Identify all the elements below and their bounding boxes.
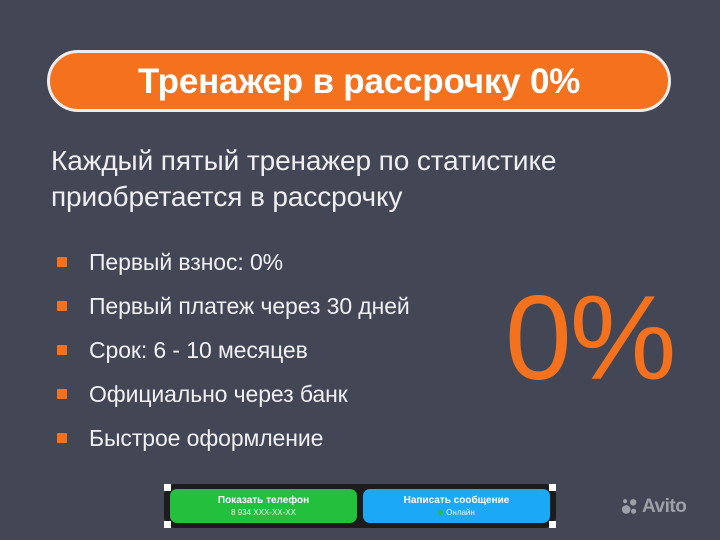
avito-dots-icon <box>621 498 638 515</box>
send-message-label: Написать сообщение <box>404 495 510 507</box>
list-item-label: Первый платеж через 30 дней <box>89 295 410 318</box>
list-item: Срок: 6 - 10 месяцев <box>57 328 487 372</box>
avito-watermark: Avito <box>621 497 686 516</box>
zero-percent-graphic: 0% <box>505 278 674 398</box>
benefits-list: Первый взнос: 0% Первый платеж через 30 … <box>57 240 487 460</box>
action-bar: Показать телефон 8 934 XXX-XX-XX Написат… <box>164 484 556 528</box>
subtitle-line-1: Каждый пятый тренажер по статистике <box>51 143 681 179</box>
online-status: Онлайн <box>438 507 475 518</box>
list-item-label: Официально через банк <box>89 383 348 406</box>
square-bullet-icon <box>57 433 67 443</box>
show-phone-button[interactable]: Показать телефон 8 934 XXX-XX-XX <box>170 489 357 523</box>
corner-marker <box>164 521 171 528</box>
show-phone-label: Показать телефон <box>218 495 309 507</box>
list-item-label: Первый взнос: 0% <box>89 251 283 274</box>
send-message-button[interactable]: Написать сообщение Онлайн <box>363 489 550 523</box>
phone-number: 8 934 XXX-XX-XX <box>231 507 296 518</box>
list-item-label: Срок: 6 - 10 месяцев <box>89 339 308 362</box>
list-item: Быстрое оформление <box>57 416 487 460</box>
avito-wordmark: Avito <box>642 497 686 516</box>
list-item: Первый взнос: 0% <box>57 240 487 284</box>
list-item: Первый платеж через 30 дней <box>57 284 487 328</box>
corner-marker <box>549 484 556 491</box>
square-bullet-icon <box>57 345 67 355</box>
corner-marker <box>549 521 556 528</box>
subtitle-line-2: приобретается в рассрочку <box>51 179 681 215</box>
online-status-label: Онлайн <box>446 507 475 518</box>
subtitle-block: Каждый пятый тренажер по статистике прио… <box>51 143 681 215</box>
square-bullet-icon <box>57 389 67 399</box>
headline-banner: Тренажер в рассрочку 0% <box>47 50 671 112</box>
headline-text: Тренажер в рассрочку 0% <box>138 64 580 99</box>
list-item: Официально через банк <box>57 372 487 416</box>
square-bullet-icon <box>57 301 67 311</box>
square-bullet-icon <box>57 257 67 267</box>
list-item-label: Быстрое оформление <box>89 427 323 450</box>
online-dot-icon <box>438 510 443 515</box>
corner-marker <box>164 484 171 491</box>
advertisement-slide: Тренажер в рассрочку 0% Каждый пятый тре… <box>0 0 720 540</box>
